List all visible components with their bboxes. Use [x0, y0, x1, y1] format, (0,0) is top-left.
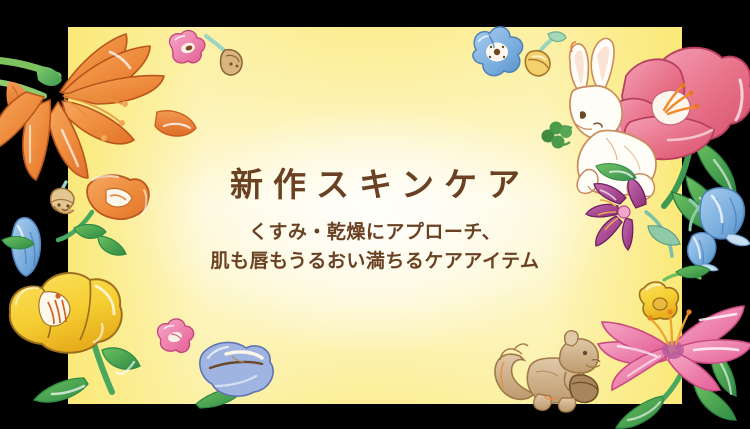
- skincare-banner: 新作スキンケア くすみ・乾燥にアプローチ、 肌も唇もうるおい満ちるケアアイテム: [0, 0, 750, 429]
- subtitle-line-2: 肌も唇もうるおい満ちるケアアイテム: [210, 247, 539, 276]
- page-title: 新作スキンケア: [220, 168, 530, 201]
- banner-text-block: 新作スキンケア くすみ・乾燥にアプローチ、 肌も唇もうるおい満ちるケアアイテム: [0, 0, 750, 429]
- subtitle-line-1: くすみ・乾燥にアプローチ、: [249, 218, 501, 247]
